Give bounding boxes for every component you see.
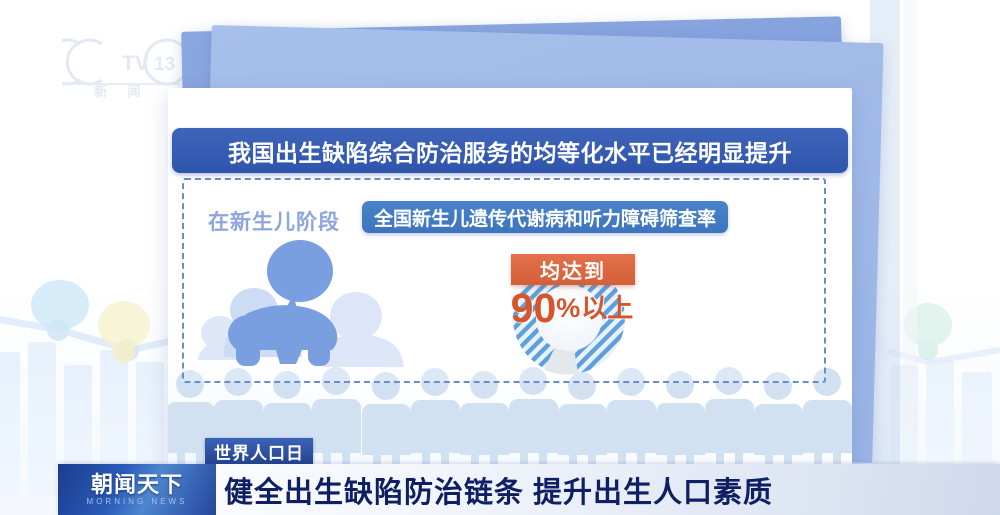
headline-text: 健全出生缺陷防治链条 提升出生人口素质: [224, 469, 773, 511]
value-number: 90: [511, 288, 557, 329]
value-suffix: 以上: [581, 295, 633, 321]
badge-average-reached: 均达到: [511, 254, 635, 285]
svg-text:新 闻: 新 闻: [94, 84, 149, 98]
badge-label: 均达到: [540, 255, 606, 284]
value-unit: %: [556, 295, 580, 322]
program-name-cn: 朝闻天下: [91, 473, 183, 496]
topic-tag-label: 世界人口日: [214, 439, 304, 464]
program-logo: 朝闻天下 MORNING NEWS: [58, 464, 216, 515]
svg-text:TV: TV: [122, 52, 149, 75]
broadcast-frame: TV 13 新 闻: [0, 0, 1000, 515]
headline-container: 健全出生缺陷防治链条 提升出生人口素质: [224, 464, 773, 515]
metric-label-pill: 全国新生儿遗传代谢病和听力障碍筛查率: [362, 201, 728, 233]
svg-text:13: 13: [154, 54, 175, 75]
program-name-en: MORNING NEWS: [87, 497, 188, 506]
stage-label: 在新生儿阶段: [208, 206, 340, 236]
metric-label: 全国新生儿遗传代谢病和听力障碍筛查率: [374, 204, 716, 231]
value-readout: 90 % 以上: [494, 286, 650, 330]
slide-title: 我国出生缺陷综合防治服务的均等化水平已经明显提升: [228, 134, 792, 168]
topic-tag: 世界人口日: [205, 438, 313, 464]
slide-title-bar: 我国出生缺陷综合防治服务的均等化水平已经明显提升: [172, 128, 848, 173]
baby-crawling-silhouettes-icon: [196, 238, 411, 373]
